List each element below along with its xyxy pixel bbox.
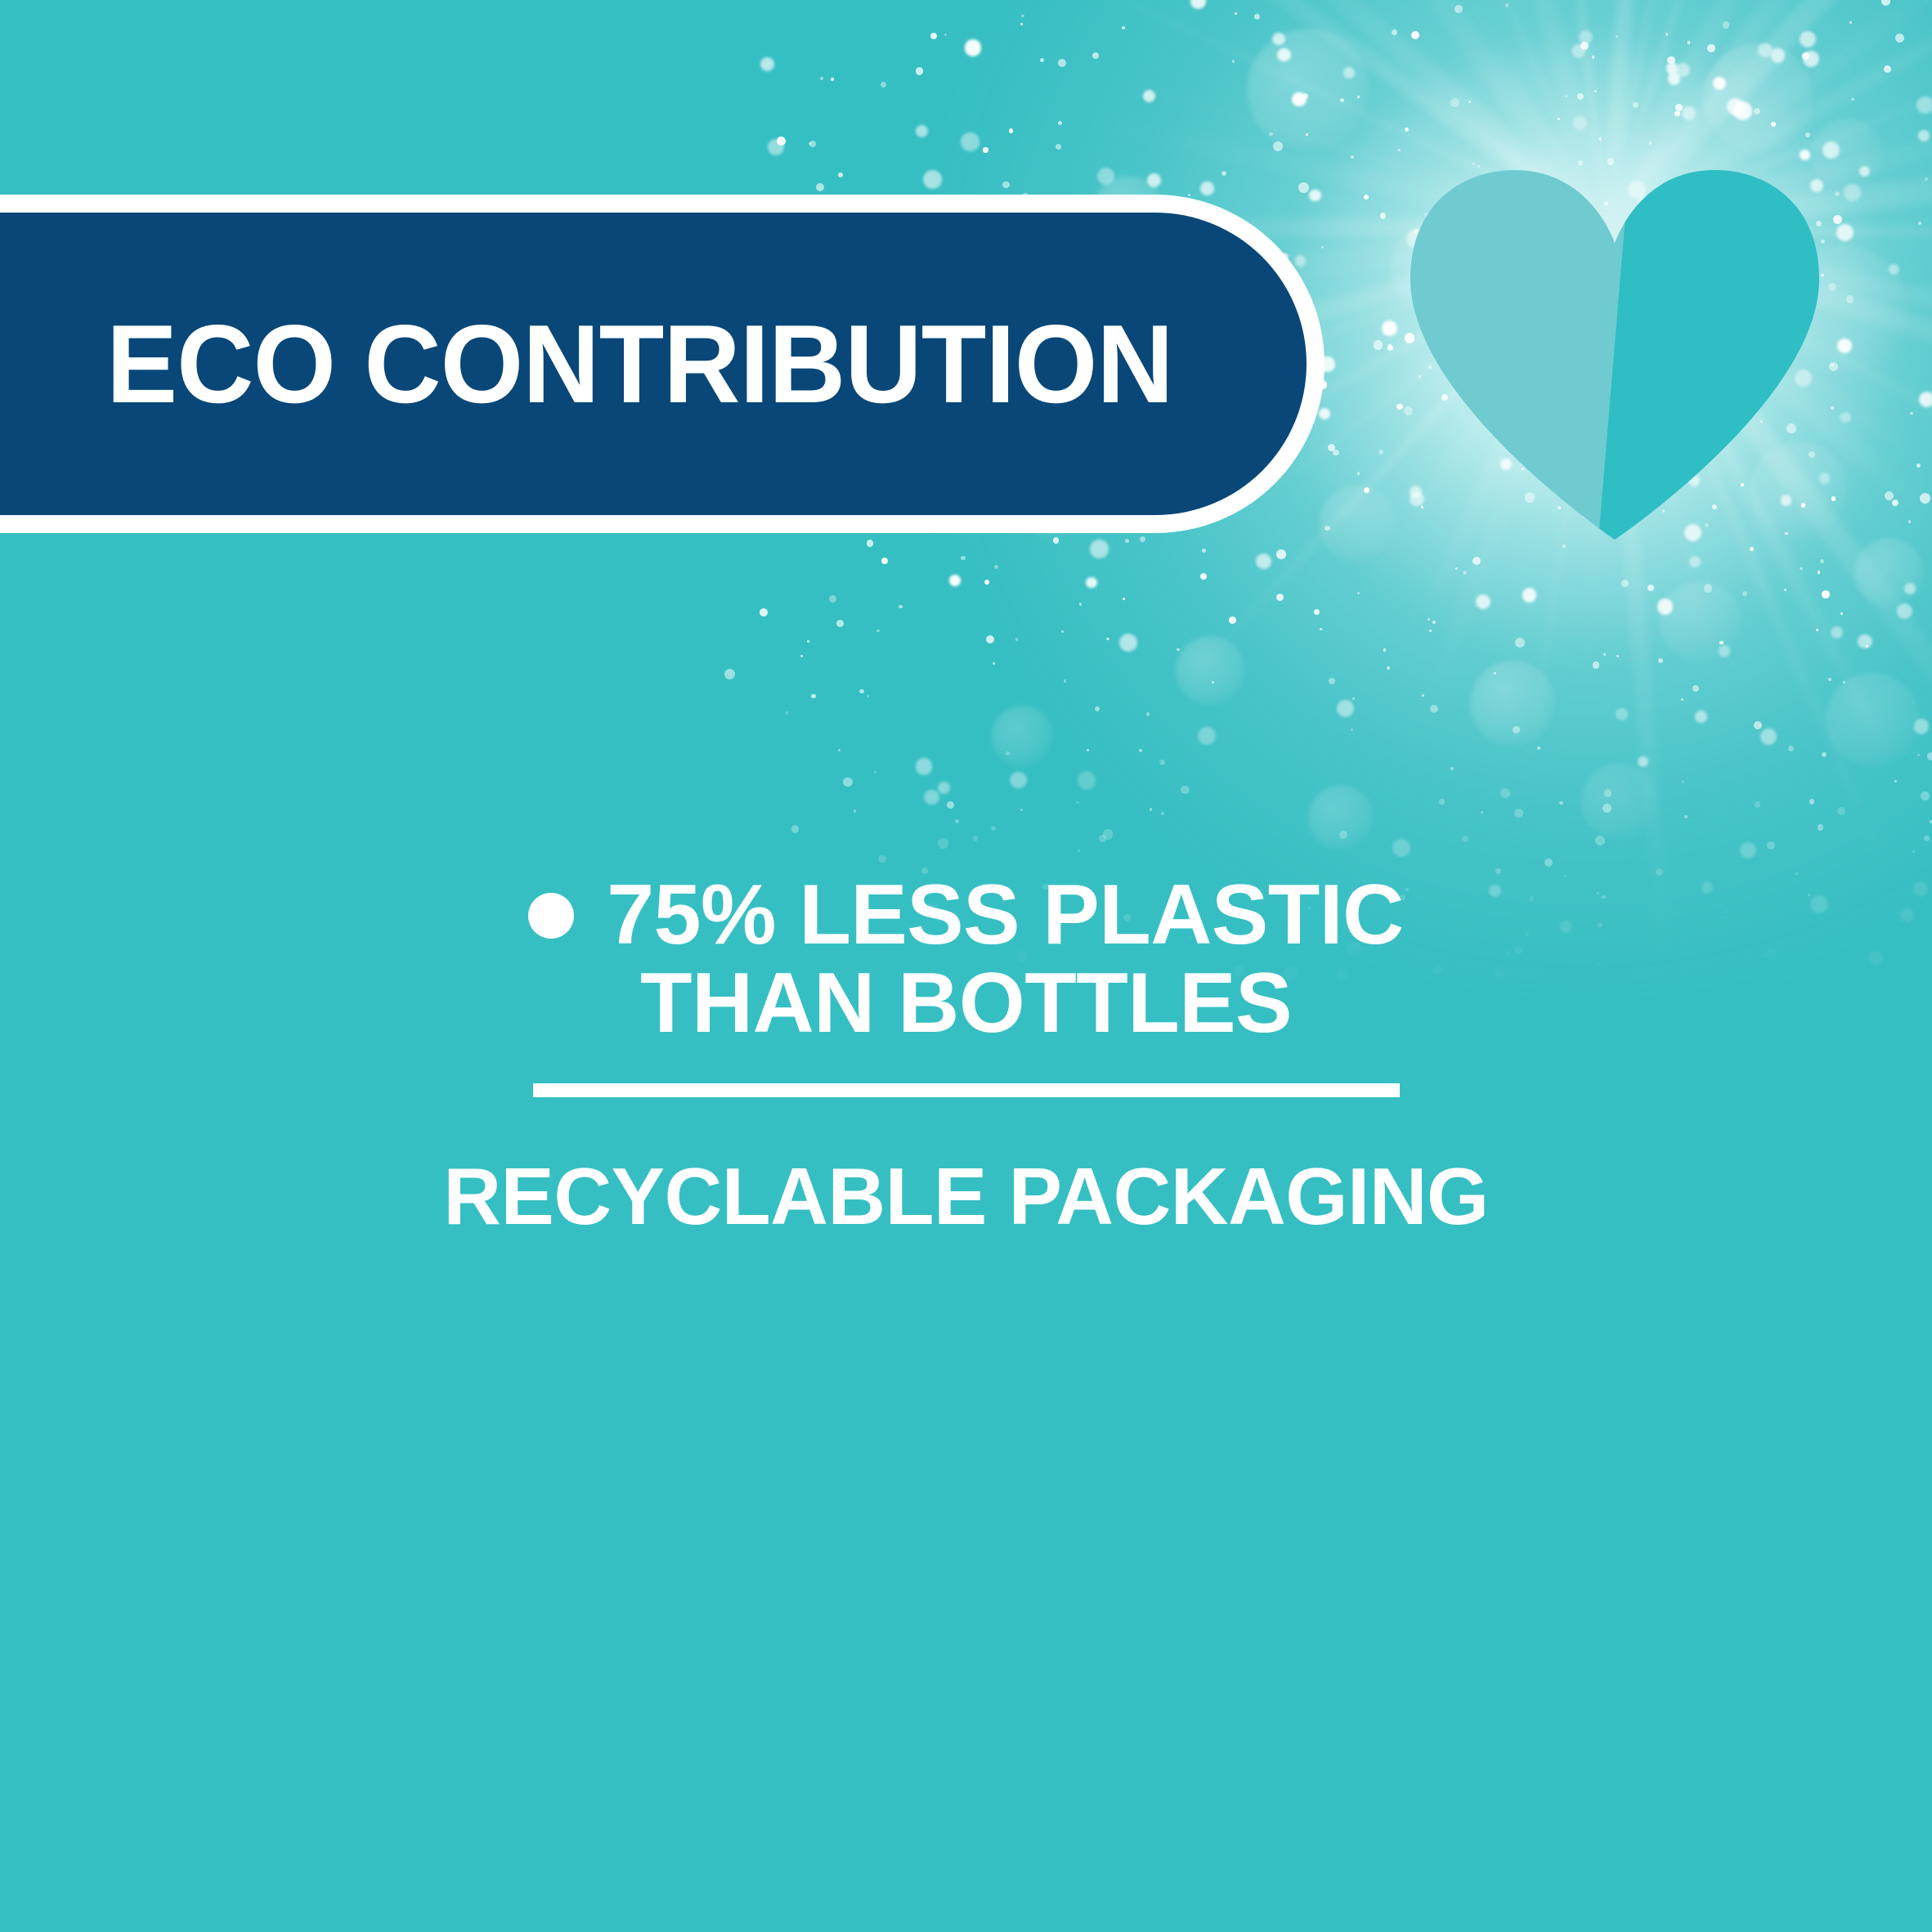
claims-block: 75% LESS PLASTIC THAN BOTTLES RECYCLABLE… <box>0 867 1932 1236</box>
eco-contribution-banner: ECO CONTRIBUTION <box>0 195 1325 533</box>
claims-divider <box>533 1083 1400 1097</box>
bullet-dot-icon <box>528 893 574 939</box>
banner-fill: ECO CONTRIBUTION <box>0 213 1307 515</box>
primary-claim-line-1-row: 75% LESS PLASTIC <box>528 872 1403 959</box>
primary-claim-line-1: 75% LESS PLASTIC <box>607 872 1403 959</box>
primary-claim: 75% LESS PLASTIC THAN BOTTLES <box>0 867 1932 1047</box>
primary-claim-line-2: THAN BOTTLES <box>164 960 1768 1047</box>
banner-title: ECO CONTRIBUTION <box>106 308 1173 419</box>
eco-contribution-panel: ECO CONTRIBUTION 75% LESS PLASTIC THAN B… <box>0 0 1932 1932</box>
secondary-claim: RECYCLABLE PACKAGING <box>0 1156 1932 1236</box>
